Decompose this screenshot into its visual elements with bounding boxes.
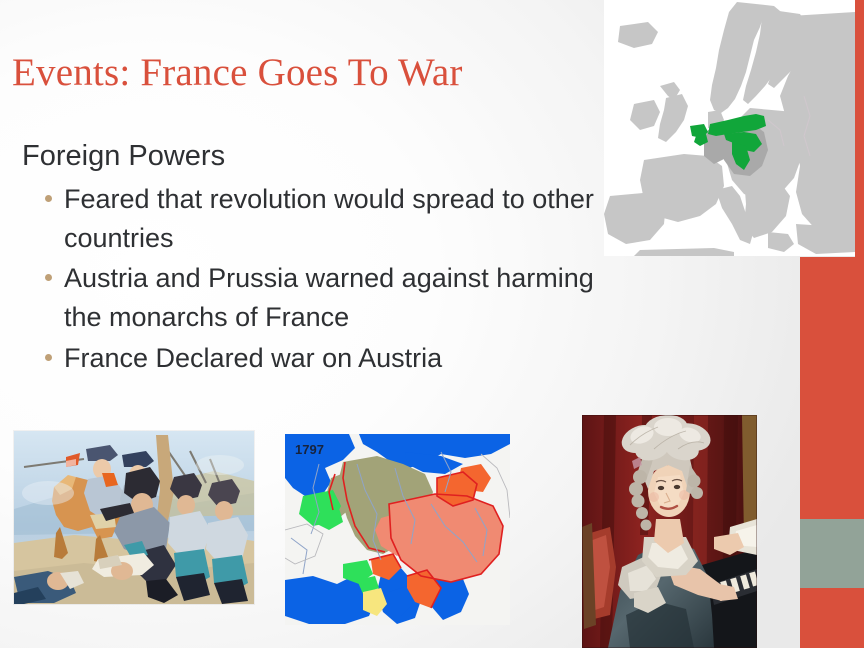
battle-illustration-graphic bbox=[14, 431, 254, 604]
decor-bar-orange-upper bbox=[800, 257, 864, 519]
battle-illustration-image bbox=[14, 431, 254, 604]
bullet-dot-icon bbox=[45, 354, 52, 361]
map-europe-graphic bbox=[604, 0, 855, 256]
bullet-list: Feared that revolution would spread to o… bbox=[20, 180, 620, 377]
decor-bar-top-strip bbox=[855, 0, 864, 257]
bullet-text: France Declared war on Austria bbox=[64, 343, 442, 373]
presentation-slide: Events: France Goes To War Foreign Power… bbox=[0, 0, 864, 648]
map-1797-image: 1797 bbox=[285, 434, 510, 625]
bullet-text: Austria and Prussia warned against harmi… bbox=[64, 263, 594, 332]
list-item: Feared that revolution would spread to o… bbox=[64, 180, 620, 257]
bullet-dot-icon bbox=[45, 195, 52, 202]
bullet-text: Feared that revolution would spread to o… bbox=[64, 184, 594, 253]
body-heading: Foreign Powers bbox=[22, 138, 620, 174]
map-year-label: 1797 bbox=[295, 442, 324, 457]
map-europe-image bbox=[604, 0, 855, 256]
bullet-dot-icon bbox=[45, 274, 52, 281]
list-item: France Declared war on Austria bbox=[64, 339, 620, 378]
decor-bar-green-middle bbox=[800, 519, 864, 588]
slide-title: Events: France Goes To War bbox=[12, 52, 592, 95]
decor-bar-orange-lower bbox=[800, 588, 864, 648]
slide-body: Foreign Powers Feared that revolution wo… bbox=[20, 138, 620, 379]
map-1797-graphic: 1797 bbox=[285, 434, 510, 625]
portrait-image bbox=[582, 415, 757, 648]
list-item: Austria and Prussia warned against harmi… bbox=[64, 259, 620, 336]
portrait-graphic bbox=[582, 415, 757, 648]
